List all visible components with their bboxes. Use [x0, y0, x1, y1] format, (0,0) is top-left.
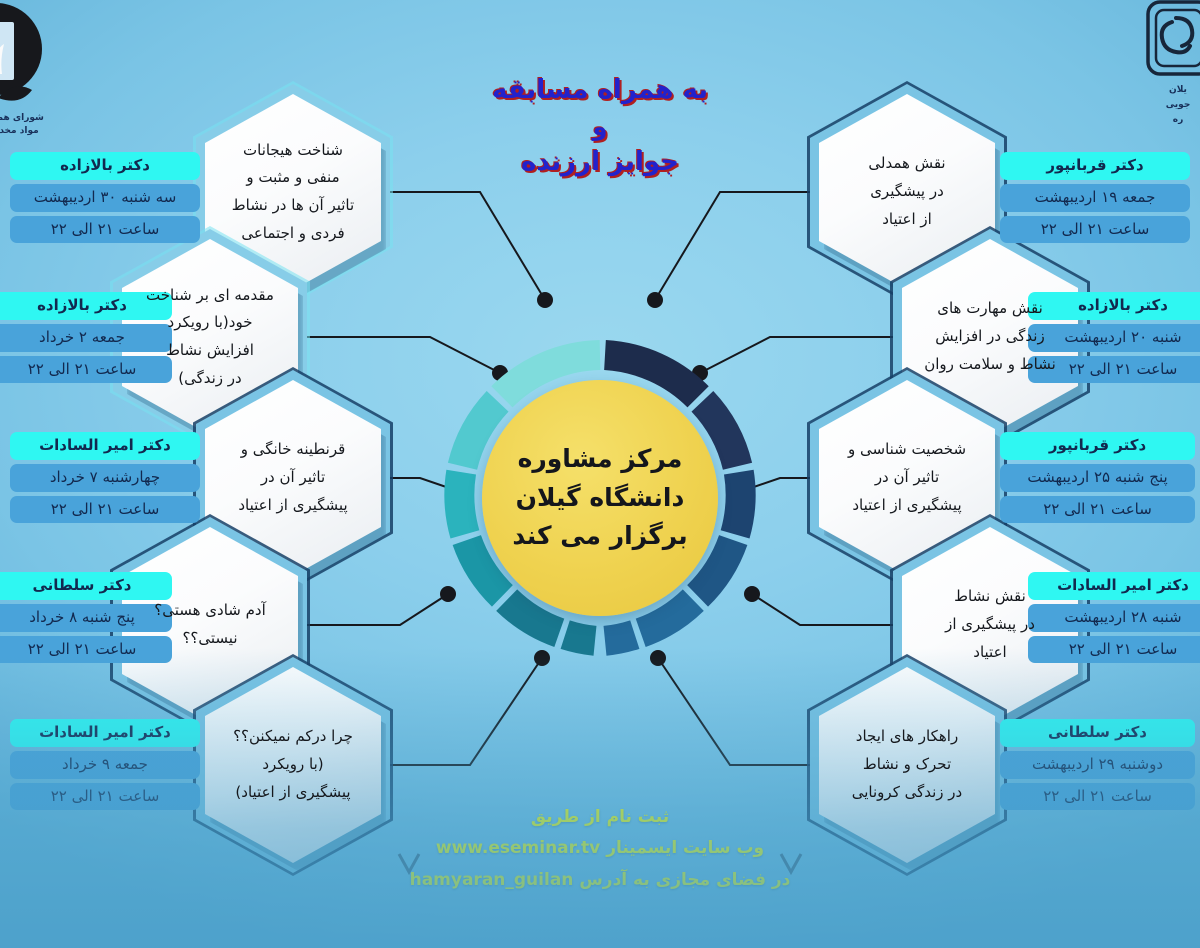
header-line-1: به همراه مسابقه	[0, 72, 1200, 110]
topic-text: نقش نشاط در پیشگیری از اعتیاد	[919, 583, 1061, 666]
time-chip[interactable]: ساعت ۲۱ الی ۲۲	[1000, 216, 1190, 244]
left-logo-caption-1: شورای هما	[0, 113, 44, 123]
left-logo-caption-2: مواد مخد	[0, 126, 39, 136]
center-line-2: دانشگاه گیلان	[516, 479, 685, 518]
topic-text: آدم شادی هستی؟ نیستی؟؟	[139, 597, 281, 653]
speaker-chip[interactable]: دکتر قربانپور	[1000, 152, 1190, 180]
chevron-down-icon	[396, 850, 422, 884]
topic-text: قرنطینه خانگی و تاثیر آن در پیشگیری از ا…	[222, 436, 364, 519]
infographic-canvas: شورای هما مواد مخد یلان جویی ره به همراه…	[0, 0, 1200, 948]
date-chip[interactable]: سه شنبه ۳۰ اردیبهشت	[10, 184, 200, 212]
date-chip[interactable]: دوشنبه ۲۹ اردیبهشت	[1000, 751, 1195, 779]
time-chip[interactable]: ساعت ۲۱ الی ۲۲	[10, 496, 200, 524]
topic-text: راهکار های ایجاد تحرک و نشاط در زندگی کر…	[836, 723, 978, 806]
speaker-chip[interactable]: دکتر امیر السادات	[10, 432, 200, 460]
right-logo-caption-2: جویی	[1166, 100, 1191, 110]
date-chip[interactable]: جمعه ۱۹ اردیبهشت	[1000, 184, 1190, 212]
drug-control-council-logo: شورای هما مواد مخد	[0, 0, 84, 144]
date-chip[interactable]: پنج شنبه ۲۵ اردیبهشت	[1000, 464, 1195, 492]
speaker-chip[interactable]: دکتر سلطانی	[0, 572, 172, 600]
right-logo-caption-1: یلان	[1169, 85, 1187, 95]
topic-text: مقدمه ای بر شناخت خود(با رویکرد افزایش ن…	[139, 282, 281, 393]
date-chip[interactable]: چهارشنبه ۷ خرداد	[10, 464, 200, 492]
center-line-1: مرکز مشاوره	[518, 440, 683, 479]
footer-line-3: در فضای مجازی به آدرس hamyaran_guilan	[0, 865, 1200, 896]
date-chip[interactable]: جمعه ۹ خرداد	[10, 751, 200, 779]
speaker-chip[interactable]: دکتر قربانپور	[1000, 432, 1195, 460]
topic-text: شخصیت شناسی و تاثیر آن در پیشگیری از اعت…	[836, 436, 978, 519]
topic-text: نقش همدلی در پیشگیری از اعتیاد	[836, 150, 978, 233]
website-url[interactable]: www.eseminar.tv	[436, 833, 600, 864]
center-hub: مرکز مشاوره دانشگاه گیلان برگزار می کند	[435, 333, 765, 663]
topic-text: نقش مهارت های زندگی در افزایش نشاط و سلا…	[919, 295, 1061, 378]
right-logo-caption-3: ره	[1173, 115, 1184, 125]
time-chip[interactable]: ساعت ۲۱ الی ۲۲	[10, 216, 200, 244]
social-handle[interactable]: hamyaran_guilan	[410, 865, 574, 896]
session-info-right-3: دکتر قربانپور پنج شنبه ۲۵ اردیبهشت ساعت …	[1000, 428, 1195, 527]
footer-social-label: در فضای مجازی به آدرس	[579, 870, 790, 890]
session-info-right-1: دکتر قربانپور جمعه ۱۹ اردیبهشت ساعت ۲۱ ا…	[1000, 148, 1190, 247]
topic-text: چرا درکم نمیکنن؟؟ (با رویکرد پیشگیری از …	[222, 723, 364, 806]
speaker-chip[interactable]: دکتر سلطانی	[1000, 719, 1195, 747]
chevron-down-icon	[778, 850, 804, 884]
footer-line-1: ثبت نام از طریق	[0, 802, 1200, 833]
registration-footer: ثبت نام از طریق وب سایت ایسمینار www.ese…	[0, 802, 1200, 896]
footer-line-2: وب سایت ایسمینار www.eseminar.tv	[0, 833, 1200, 864]
header-line-2: و	[0, 110, 1200, 145]
session-info-right-5: دکتر سلطانی دوشنبه ۲۹ اردیبهشت ساعت ۲۱ ا…	[1000, 715, 1195, 814]
topic-text: شناخت هیجانات منفی و مثبت و تاثیر آن ها …	[222, 137, 364, 248]
speaker-chip[interactable]: دکتر امیر السادات	[10, 719, 200, 747]
footer-site-label: وب سایت ایسمینار	[606, 838, 764, 858]
session-info-left-3: دکتر امیر السادات چهارشنبه ۷ خرداد ساعت …	[10, 428, 200, 527]
center-circle: مرکز مشاوره دانشگاه گیلان برگزار می کند	[482, 380, 718, 616]
university-counseling-logo: یلان جویی ره	[1132, 0, 1200, 157]
time-chip[interactable]: ساعت ۲۱ الی ۲۲	[1000, 496, 1195, 524]
speaker-chip[interactable]: دکتر بالازاده	[10, 152, 200, 180]
center-line-3: برگزار می کند	[512, 517, 687, 556]
session-info-left-1: دکتر بالازاده سه شنبه ۳۰ اردیبهشت ساعت ۲…	[10, 148, 200, 247]
session-info-left-5: دکتر امیر السادات جمعه ۹ خرداد ساعت ۲۱ ا…	[10, 715, 200, 814]
